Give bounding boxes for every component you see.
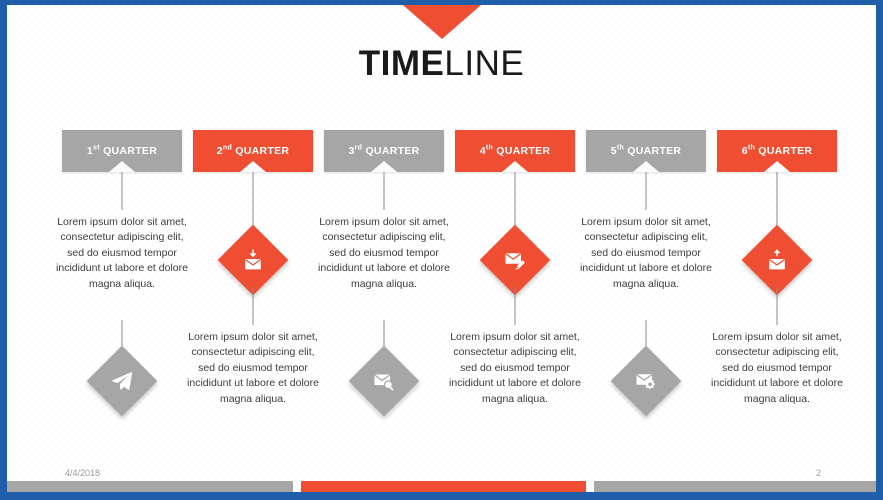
quarter-header-5[interactable]: 5th QUARTER bbox=[586, 130, 706, 172]
quarter-text-2: Lorem ipsum dolor sit amet, consectetur … bbox=[185, 330, 321, 407]
timeline-column-6: 6th QUARTER Lorem ipsum dolor sit amet, … bbox=[717, 130, 837, 172]
quarter-text-6: Lorem ipsum dolor sit amet, consectetur … bbox=[709, 330, 845, 407]
timeline-column-1: 1st QUARTER Lorem ipsum dolor sit amet, … bbox=[62, 130, 182, 172]
chevron-notch-icon bbox=[764, 161, 790, 172]
quarter-text-4: Lorem ipsum dolor sit amet, consectetur … bbox=[447, 330, 583, 407]
quarter-header-3-label: 3rd QUARTER bbox=[349, 145, 420, 157]
quarter-text-1: Lorem ipsum dolor sit amet, consectetur … bbox=[54, 215, 190, 292]
slide-canvas: TIMELINE 1st QUARTER Lorem ipsum dolor s… bbox=[7, 5, 876, 492]
paper-plane-icon bbox=[97, 356, 147, 406]
chevron-notch-icon bbox=[109, 161, 135, 172]
quarter-text-3: Lorem ipsum dolor sit amet, consectetur … bbox=[316, 215, 452, 292]
connector-line-upper bbox=[646, 172, 647, 210]
bottom-bar-gap bbox=[586, 481, 594, 492]
quarter-diamond-4[interactable] bbox=[490, 235, 540, 285]
quarter-header-3[interactable]: 3rd QUARTER bbox=[324, 130, 444, 172]
connector-line-lower bbox=[777, 287, 778, 325]
quarter-header-4[interactable]: 4th QUARTER bbox=[455, 130, 575, 172]
timeline-column-3: 3rd QUARTER Lorem ipsum dolor sit amet, … bbox=[324, 130, 444, 172]
top-triangle-decoration bbox=[403, 5, 481, 39]
quarter-header-6-label: 6th QUARTER bbox=[742, 145, 813, 157]
bottom-bar-segment-red bbox=[301, 481, 586, 492]
quarter-diamond-1[interactable] bbox=[97, 356, 147, 406]
chevron-notch-icon bbox=[502, 161, 528, 172]
bottom-accent-bar bbox=[7, 481, 876, 492]
inbox-envelope-download-icon bbox=[228, 235, 278, 285]
timeline-column-5: 5th QUARTER Lorem ipsum dolor sit amet, … bbox=[586, 130, 706, 172]
connector-line-upper bbox=[122, 172, 123, 210]
quarter-header-1-label: 1st QUARTER bbox=[87, 145, 157, 157]
envelope-search-icon bbox=[359, 356, 409, 406]
envelope-settings-gear-icon bbox=[621, 356, 671, 406]
title-bold-part: TIME bbox=[359, 44, 445, 83]
quarter-text-5: Lorem ipsum dolor sit amet, consectetur … bbox=[578, 215, 714, 292]
bottom-bar-segment-gray-right bbox=[594, 481, 876, 492]
chevron-notch-icon bbox=[240, 161, 266, 172]
connector-line-upper bbox=[384, 172, 385, 210]
quarter-diamond-3[interactable] bbox=[359, 356, 409, 406]
quarter-header-6[interactable]: 6th QUARTER bbox=[717, 130, 837, 172]
chevron-notch-icon bbox=[633, 161, 659, 172]
timeline-column-4: 4th QUARTER Lorem ipsum dolor sit amet, … bbox=[455, 130, 575, 172]
page-title: TIMELINE bbox=[7, 46, 876, 81]
timeline-column-2: 2nd QUARTER Lorem ipsum dolor sit amet, … bbox=[193, 130, 313, 172]
outbox-envelope-upload-icon bbox=[752, 235, 802, 285]
bottom-bar-gap bbox=[293, 481, 301, 492]
footer-date: 4/4/2018 bbox=[65, 468, 100, 478]
quarter-header-1[interactable]: 1st QUARTER bbox=[62, 130, 182, 172]
footer-page-number: 2 bbox=[816, 468, 821, 478]
bottom-bar-segment-gray-left bbox=[7, 481, 293, 492]
quarter-diamond-2[interactable] bbox=[228, 235, 278, 285]
quarter-header-5-label: 5th QUARTER bbox=[611, 145, 682, 157]
connector-line-lower bbox=[515, 287, 516, 325]
quarter-header-2[interactable]: 2nd QUARTER bbox=[193, 130, 313, 172]
chevron-notch-icon bbox=[371, 161, 397, 172]
envelope-compose-pencil-icon bbox=[490, 235, 540, 285]
quarter-diamond-6[interactable] bbox=[752, 235, 802, 285]
quarter-header-2-label: 2nd QUARTER bbox=[217, 145, 290, 157]
title-light-part: LINE bbox=[444, 44, 524, 83]
quarter-diamond-5[interactable] bbox=[621, 356, 671, 406]
quarter-header-4-label: 4th QUARTER bbox=[480, 145, 551, 157]
connector-line-lower bbox=[253, 287, 254, 325]
